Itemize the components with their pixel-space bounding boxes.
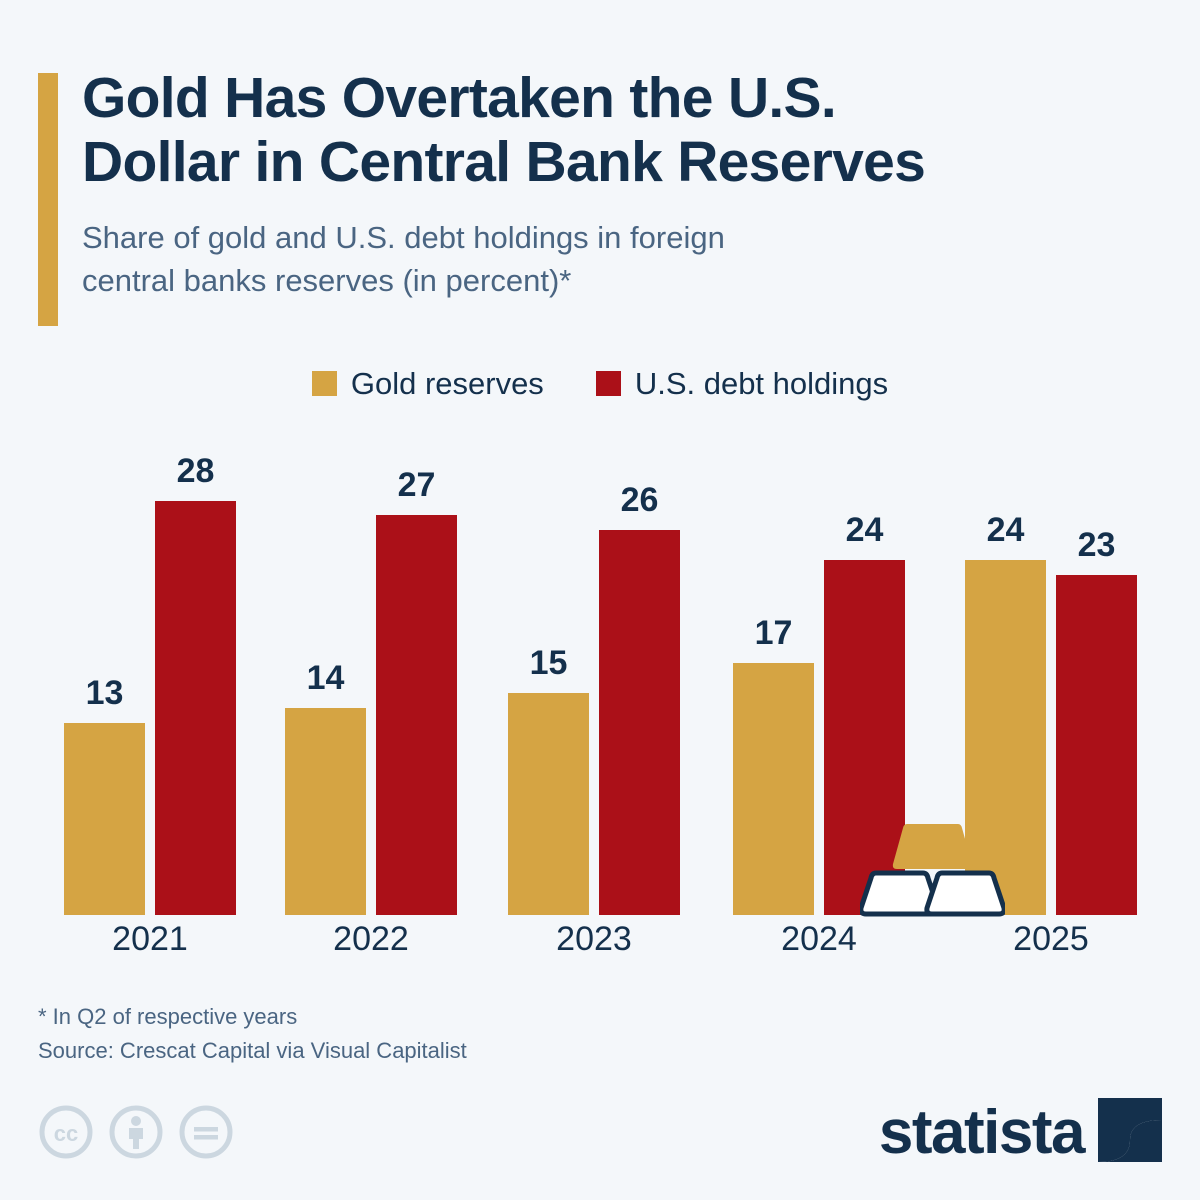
bar-value-2022-debt: 27 (376, 468, 457, 502)
attribution-person-icon[interactable] (108, 1104, 164, 1165)
bar-value-2021-gold: 13 (64, 676, 145, 710)
x-axis-label-2022: 2022 (285, 922, 457, 956)
gold-ingot-top (893, 824, 972, 869)
bar-2024-gold (733, 663, 814, 915)
x-axis-label-2024: 2024 (733, 922, 905, 956)
infographic-root: Gold Has Overtaken the U.S. Dollar in Ce… (0, 0, 1200, 1200)
statista-curve-icon (1098, 1098, 1162, 1167)
statista-logo[interactable]: statista (879, 1098, 1162, 1167)
bar-value-2023-debt: 26 (599, 483, 680, 517)
bar-2022-gold (285, 708, 366, 915)
bar-value-2025-debt: 23 (1056, 528, 1137, 562)
bar-2023-debt (599, 530, 680, 915)
bar-value-2023-gold: 15 (508, 646, 589, 680)
creative-commons-icons: cc (38, 1104, 234, 1165)
bar-2022-debt (376, 515, 457, 915)
bar-2025-debt (1056, 575, 1137, 915)
footnote-note: * In Q2 of respective years (38, 1000, 467, 1034)
bar-2021-gold (64, 723, 145, 915)
svg-text:cc: cc (54, 1121, 78, 1146)
x-axis-label-2025: 2025 (965, 922, 1137, 956)
gold-ingot-bottom-right (927, 873, 1004, 914)
no-derivatives-equals-icon[interactable] (178, 1104, 234, 1165)
bar-value-2024-debt: 24 (824, 513, 905, 547)
bar-2021-debt (155, 501, 236, 915)
statista-wordmark: statista (879, 1102, 1084, 1164)
bar-value-2021-debt: 28 (155, 454, 236, 488)
cc-icon[interactable]: cc (38, 1104, 94, 1165)
bar-2023-gold (508, 693, 589, 915)
bar-value-2025-gold: 24 (965, 513, 1046, 547)
footnotes: * In Q2 of respective years Source: Cres… (38, 1000, 467, 1068)
bar-value-2022-gold: 14 (285, 661, 366, 695)
footnote-source: Source: Crescat Capital via Visual Capit… (38, 1034, 467, 1068)
x-axis-label-2023: 2023 (508, 922, 680, 956)
x-axis-label-2021: 2021 (64, 922, 236, 956)
bar-value-2024-gold: 17 (733, 616, 814, 650)
gold-ingot-illustration (860, 822, 1005, 918)
